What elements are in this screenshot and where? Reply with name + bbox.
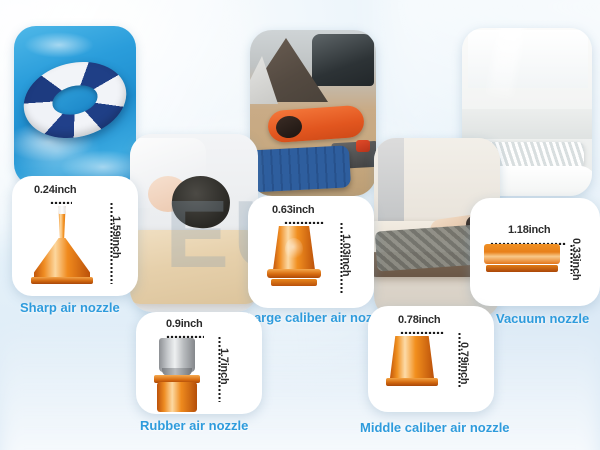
rubber-nozzle-graphic [142,338,212,408]
large-height-dimension: 1.03inch [340,234,352,276]
pool-water [14,26,136,186]
headboard [462,109,592,139]
rubber-orange-body [157,382,197,412]
large-caliber-base [271,279,317,286]
photo-swim-ring-pool [14,26,136,186]
label-sharp-air-nozzle: Sharp air nozzle [20,300,120,315]
vacuum-base-flange [486,265,558,272]
window [468,30,588,88]
label-rubber-air-nozzle: Rubber air nozzle [140,418,248,433]
large-width-dimension: 0.63inch [272,204,314,216]
nozzle-card-vacuum: 1.18inch 0.33inch [470,198,600,306]
background-light-streak [0,320,600,450]
rubber-height-dimension: 1.7inch [218,348,230,385]
vacuum-height-dimension: 0.33inch [570,238,582,280]
photo-camping-tent [250,30,376,196]
cup-highlight [285,238,303,260]
photo-inflatable-pillow [130,134,258,312]
large-caliber-collar [267,269,321,278]
middle-caliber-base-flange [386,378,438,386]
blanket [375,224,482,271]
nozzle-card-rubber: 0.9inch 1.7inch [136,312,262,414]
sharp-cone [34,238,90,278]
sharp-spout [56,206,69,240]
swim-ring-hole [49,80,100,118]
label-middle-caliber-air-nozzle: Middle caliber air nozzle [360,420,510,435]
sharp-base-flange [31,277,93,284]
middle-height-dimension: 0.79inch [458,342,470,384]
sharp-width-dimension: 0.24inch [34,184,76,196]
nozzle-card-sharp: 0.24inch 1.59inch [12,176,138,296]
large-caliber-cup [273,226,315,270]
vacuum-nozzle-graphic [480,244,564,278]
middle-width-dimension: 0.78inch [398,314,440,326]
nozzle-card-middle-caliber: 0.78inch 0.79inch [368,306,494,412]
rubber-grey-top [159,338,195,372]
blue-air-mattress [250,145,351,192]
rubber-width-dimension: 0.9inch [166,318,203,330]
large-caliber-nozzle-graphic [256,224,332,300]
middle-caliber-nozzle-graphic [376,334,448,396]
camp-cup [356,140,370,152]
sharp-height-dimension: 1.59inch [110,216,122,258]
inflatable-pillow [130,230,258,304]
infographic-canvas: EU 0.24inch 1.59inch Sharp air nozzle 0.… [0,0,600,450]
water-ripple [24,32,94,58]
vacuum-flat-body [484,244,560,264]
vacuum-width-dimension: 1.18inch [508,224,550,236]
sharp-nozzle-graphic [26,204,98,288]
label-vacuum-nozzle: Vacuum nozzle [496,311,589,326]
nozzle-card-large-caliber: 0.63inch 1.03inch [248,196,374,308]
sharp-tip [58,204,67,214]
suv-vehicle [312,34,374,86]
middle-caliber-cup [390,336,434,378]
